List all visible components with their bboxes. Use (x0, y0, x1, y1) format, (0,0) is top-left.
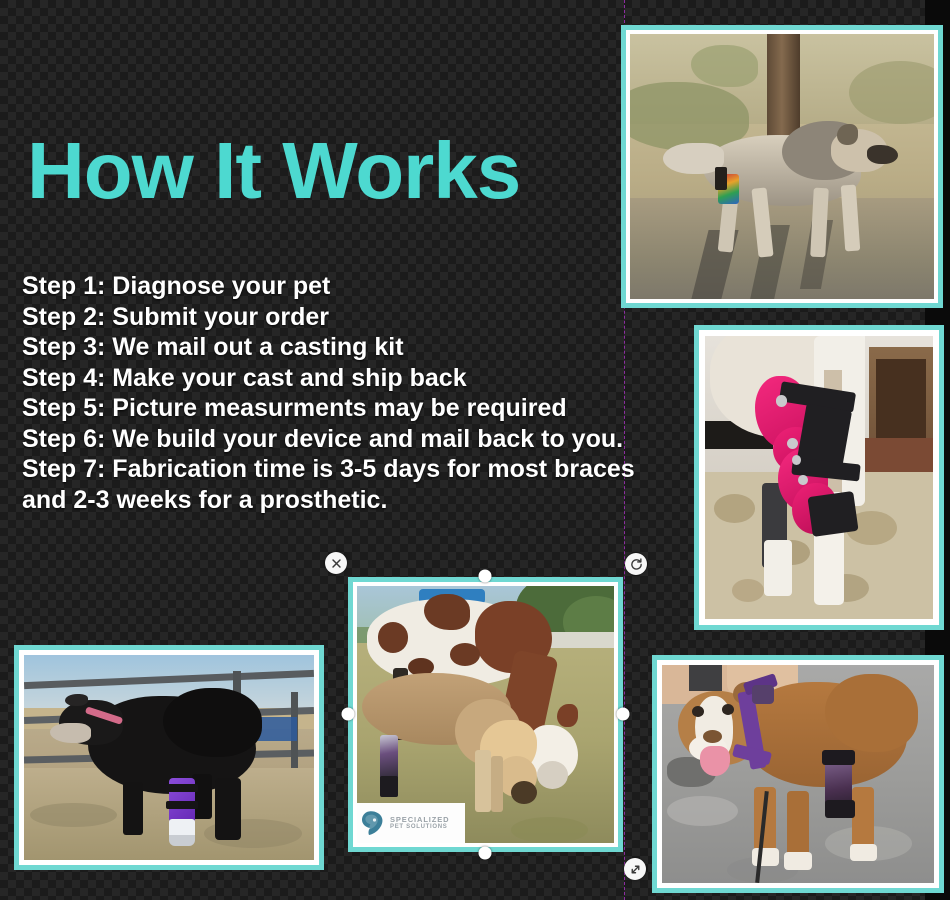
photo-horse-and-pony[interactable]: SPECIALIZED PET SOLUTIONS (348, 577, 623, 852)
page-title: How It Works (27, 131, 520, 211)
step-line-6: Step 6: We build your device and mail ba… (22, 424, 635, 455)
delete-button[interactable] (325, 552, 347, 574)
step-line-3: Step 3: We mail out a casting kit (22, 332, 635, 363)
close-icon (331, 558, 342, 569)
step-line-8: and 2-3 weeks for a prosthetic. (22, 485, 635, 516)
rotate-icon (630, 558, 643, 571)
pony-leg-brace (380, 735, 398, 781)
resize-button[interactable] (624, 858, 646, 880)
resize-diagonal-icon (629, 863, 642, 876)
handle-top-center[interactable] (479, 570, 492, 583)
editor-canvas[interactable]: How It Works Step 1: Diagnose your pet S… (0, 0, 950, 900)
handle-left-middle[interactable] (342, 708, 355, 721)
step-line-5: Step 5: Picture measurments may be requi… (22, 393, 635, 424)
photo-dog-purple-harness[interactable] (652, 655, 944, 893)
handle-right-middle[interactable] (617, 708, 630, 721)
horse-head-logo-icon (360, 809, 386, 837)
dog-tongue (700, 746, 730, 777)
photo-dog-pink-knee-brace[interactable] (694, 325, 944, 630)
photo-dog-walking-trail[interactable] (621, 25, 943, 308)
watermark-line-1: SPECIALIZED (390, 816, 450, 824)
step-line-1: Step 1: Diagnose your pet (22, 271, 635, 302)
watermark: SPECIALIZED PET SOLUTIONS (357, 803, 465, 843)
step-line-7: Step 7: Fabrication time is 3-5 days for… (22, 454, 635, 485)
watermark-line-2: PET SOLUTIONS (390, 824, 450, 830)
steps-list: Step 1: Diagnose your pet Step 2: Submit… (22, 271, 635, 515)
step-line-4: Step 4: Make your cast and ship back (22, 363, 635, 394)
step-line-2: Step 2: Submit your order (22, 302, 635, 333)
rotate-button[interactable] (625, 553, 647, 575)
photo-calf-purple-brace[interactable] (14, 645, 324, 870)
handle-bottom-center[interactable] (479, 847, 492, 860)
